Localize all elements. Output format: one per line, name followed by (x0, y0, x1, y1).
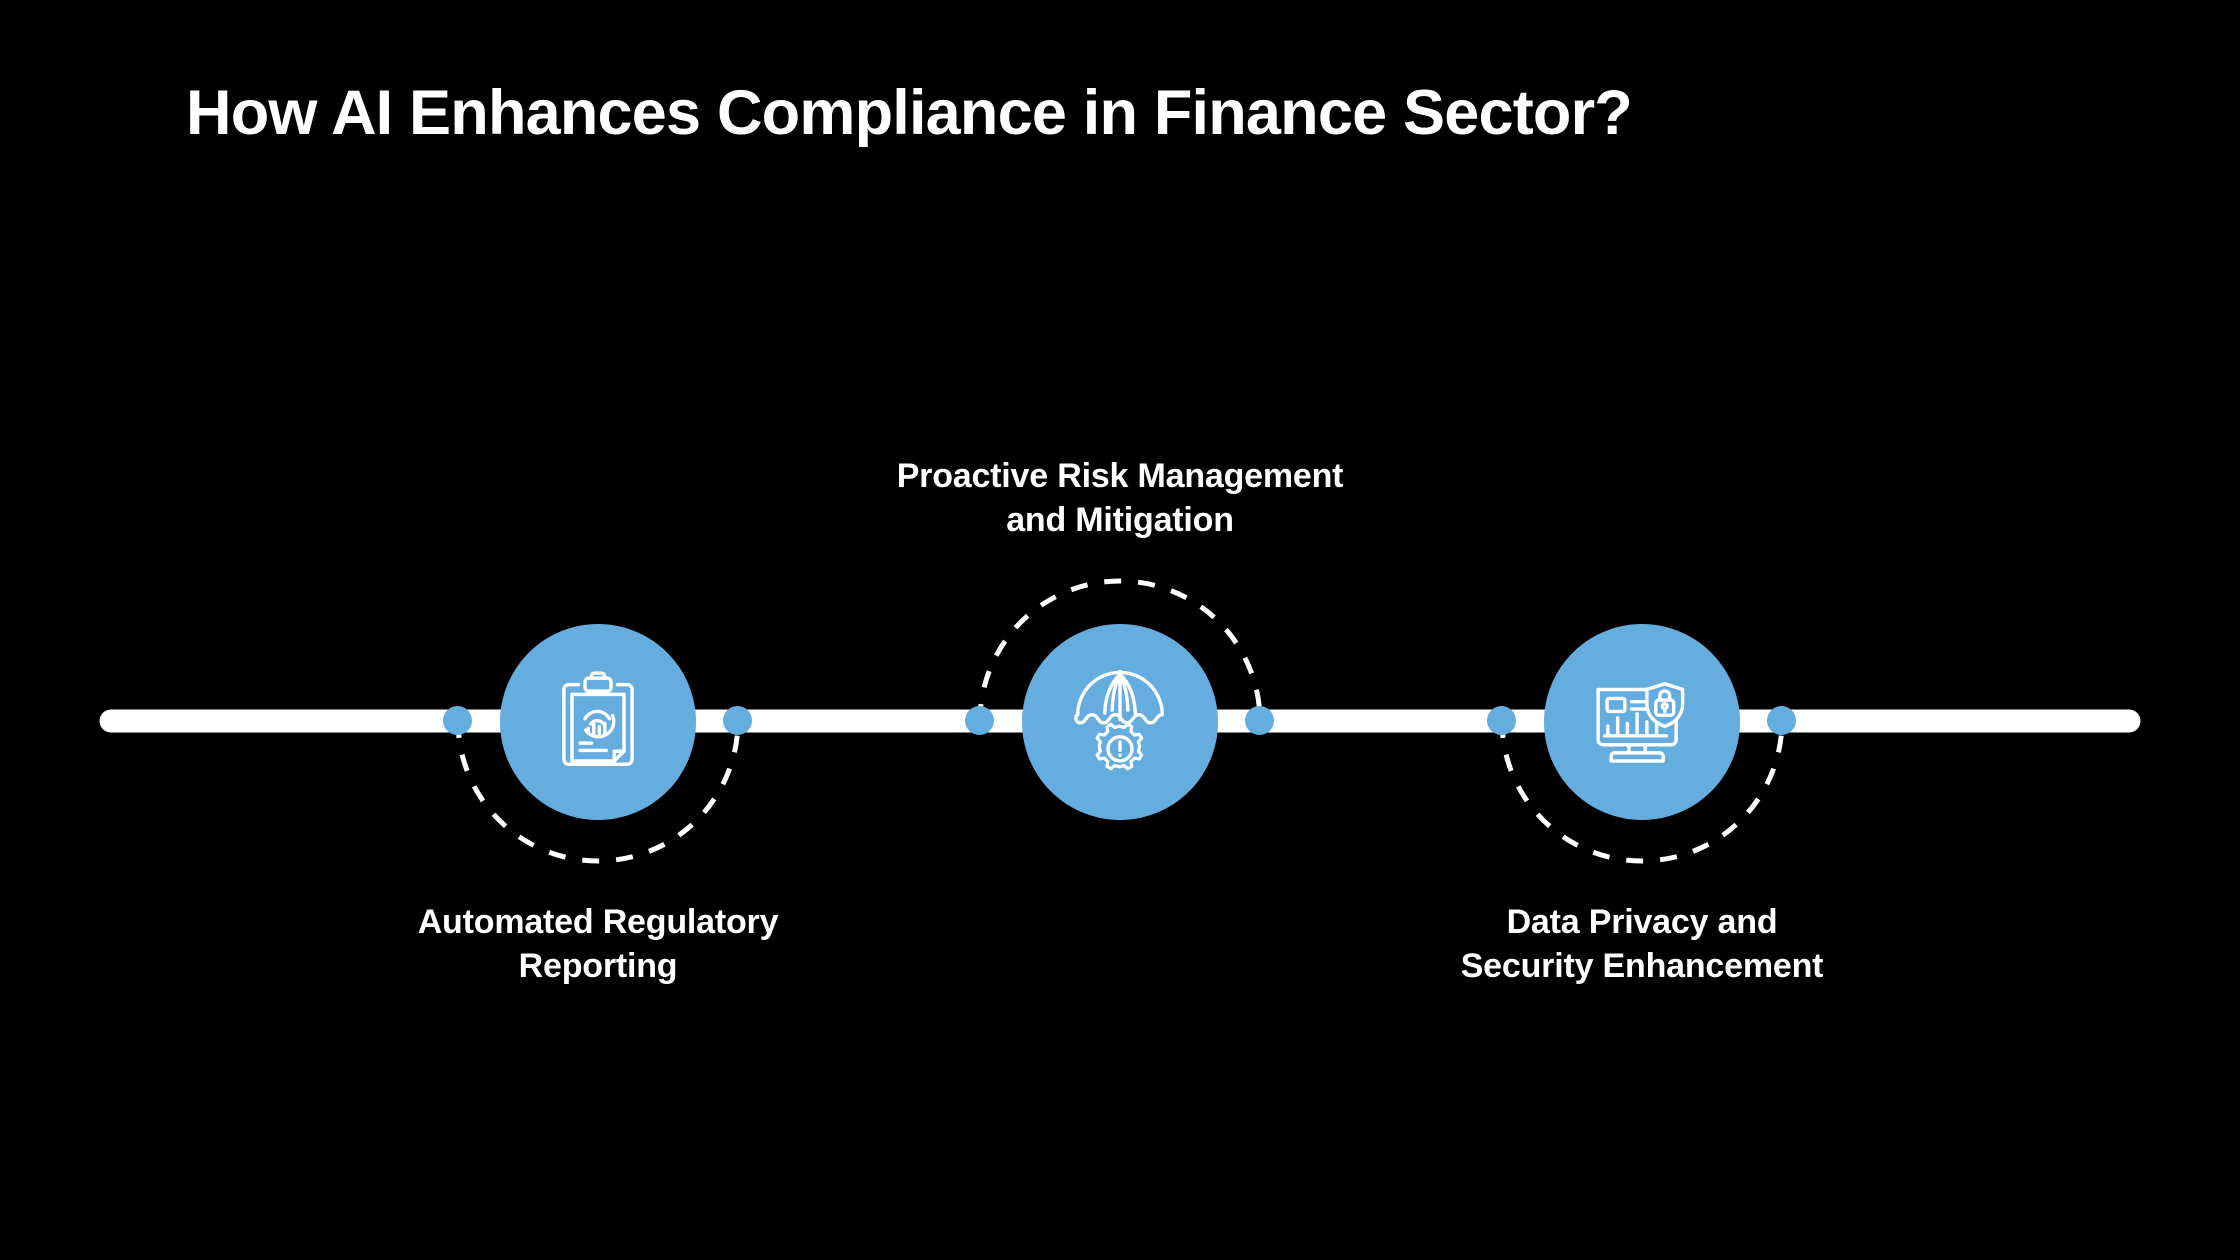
timeline-label-step-3-line2: Security Enhancement (1347, 944, 1937, 988)
timeline-label-step-2: Proactive Risk Management and Mitigation (825, 454, 1415, 542)
connector-dot-step-1-left (443, 706, 472, 735)
timeline-label-step-3: Data Privacy and Security Enhancement (1347, 900, 1937, 988)
umbrella-gear-alert-icon (1068, 670, 1172, 774)
connector-dot-step-2-left (965, 706, 994, 735)
connector-dot-step-2-right (1245, 706, 1274, 735)
clipboard-report-icon (546, 670, 650, 774)
timeline-label-step-2-line1: Proactive Risk Management (825, 454, 1415, 498)
timeline-label-step-2-line2: and Mitigation (825, 498, 1415, 542)
infographic-canvas: How AI Enhances Compliance in Finance Se… (0, 0, 2240, 1260)
connector-dot-step-3-right (1767, 706, 1796, 735)
timeline-label-step-1: Automated Regulatory Reporting (303, 900, 893, 988)
page-title: How AI Enhances Compliance in Finance Se… (186, 78, 2106, 149)
timeline-label-step-3-line1: Data Privacy and (1347, 900, 1937, 944)
timeline-node-step-1[interactable] (500, 624, 696, 820)
timeline-node-step-2[interactable] (1022, 624, 1218, 820)
connector-dot-step-3-left (1487, 706, 1516, 735)
monitor-chart-shield-lock-icon (1590, 670, 1694, 774)
connector-dot-step-1-right (723, 706, 752, 735)
timeline-label-step-1-line2: Reporting (303, 944, 893, 988)
timeline-label-step-1-line1: Automated Regulatory (303, 900, 893, 944)
timeline-node-step-3[interactable] (1544, 624, 1740, 820)
